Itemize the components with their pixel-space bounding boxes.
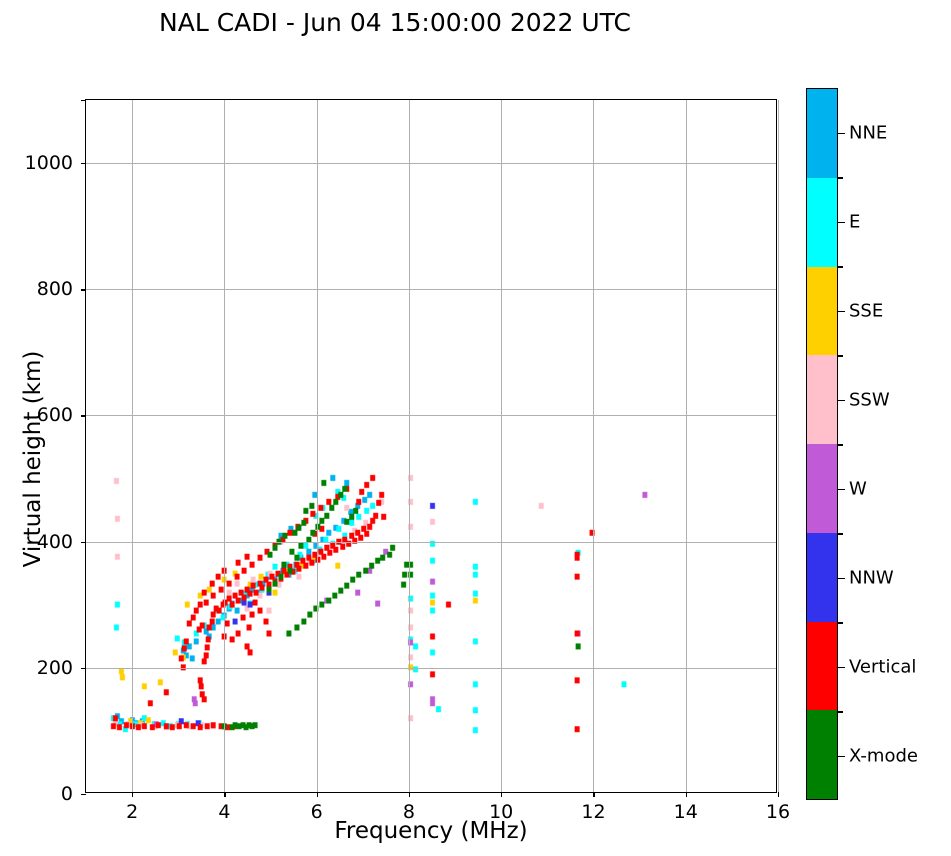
colorbar-segment-x-mode [807, 710, 837, 799]
colorbar-tick [838, 222, 845, 224]
colorbar-label-vertical: Vertical [849, 656, 916, 677]
x-tick [317, 792, 318, 797]
ionogram-plot: 24681012141602004006008001000 [85, 99, 777, 793]
y-tick-label: 1000 [25, 152, 73, 174]
colorbar-segment-w [807, 444, 837, 533]
chart-title: NAL CADI - Jun 04 15:00:00 2022 UTC [0, 8, 790, 37]
grid-line-vertical [317, 100, 318, 792]
y-tick [81, 542, 86, 543]
y-tick-label: 0 [61, 783, 73, 805]
colorbar-segment-sse [807, 267, 837, 356]
grid-line-vertical [778, 100, 779, 792]
grid-line-horizontal [86, 163, 776, 164]
colorbar-label-w: W [849, 478, 867, 499]
colorbar-tick [838, 400, 845, 402]
colorbar-label-ssw: SSW [849, 389, 890, 410]
y-tick-label: 200 [37, 657, 73, 679]
colorbar-tick [838, 578, 845, 580]
colorbar-tick [838, 133, 845, 135]
colorbar-label-sse: SSE [849, 300, 883, 321]
x-tick [593, 792, 594, 797]
x-axis-title: Frequency (MHz) [85, 818, 777, 844]
y-tick [81, 163, 86, 164]
scatter-canvas [86, 100, 776, 792]
grid-line-vertical [409, 100, 410, 792]
grid-line-horizontal [86, 289, 776, 290]
y-tick [81, 415, 86, 416]
colorbar-segment-e [807, 178, 837, 267]
colorbar-tick [838, 756, 845, 758]
y-tick [81, 794, 86, 795]
colorbar-boundary-tick [838, 266, 843, 268]
grid-line-horizontal [86, 415, 776, 416]
x-tick [409, 792, 410, 797]
colorbar-label-e: E [849, 211, 860, 232]
colorbar-segment-vertical [807, 622, 837, 711]
grid-line-horizontal [86, 668, 776, 669]
grid-line-vertical [593, 100, 594, 792]
y-tick [81, 668, 86, 669]
colorbar-label-nne: NNE [849, 122, 887, 143]
grid-line-vertical [501, 100, 502, 792]
colorbar-boundary-tick [838, 355, 843, 357]
x-tick [778, 792, 779, 797]
colorbar [806, 88, 838, 800]
x-tick [686, 792, 687, 797]
colorbar-boundary-tick [838, 444, 843, 446]
colorbar-label-x-mode: X-mode [849, 745, 918, 766]
grid-line-vertical [224, 100, 225, 792]
colorbar-tick [838, 489, 845, 491]
y-tick [81, 289, 86, 290]
x-tick [224, 792, 225, 797]
colorbar-boundary-tick [838, 711, 843, 713]
colorbar-boundary-tick [838, 177, 843, 179]
colorbar-tick [838, 667, 845, 669]
y-axis-title: Virtual height (km) [20, 309, 46, 609]
colorbar-tick [838, 311, 845, 313]
grid-line-vertical [132, 100, 133, 792]
colorbar-boundary-tick [838, 533, 843, 535]
colorbar-label-nnw: NNW [849, 567, 894, 588]
x-tick [501, 792, 502, 797]
colorbar-segment-nne [807, 89, 837, 178]
grid-line-horizontal [86, 542, 776, 543]
colorbar-boundary-tick [838, 622, 843, 624]
y-tick-label: 800 [37, 278, 73, 300]
x-tick [132, 792, 133, 797]
colorbar-segment-nnw [807, 533, 837, 622]
y-tick-minor [81, 100, 86, 101]
grid-line-vertical [686, 100, 687, 792]
colorbar-segment-ssw [807, 355, 837, 444]
